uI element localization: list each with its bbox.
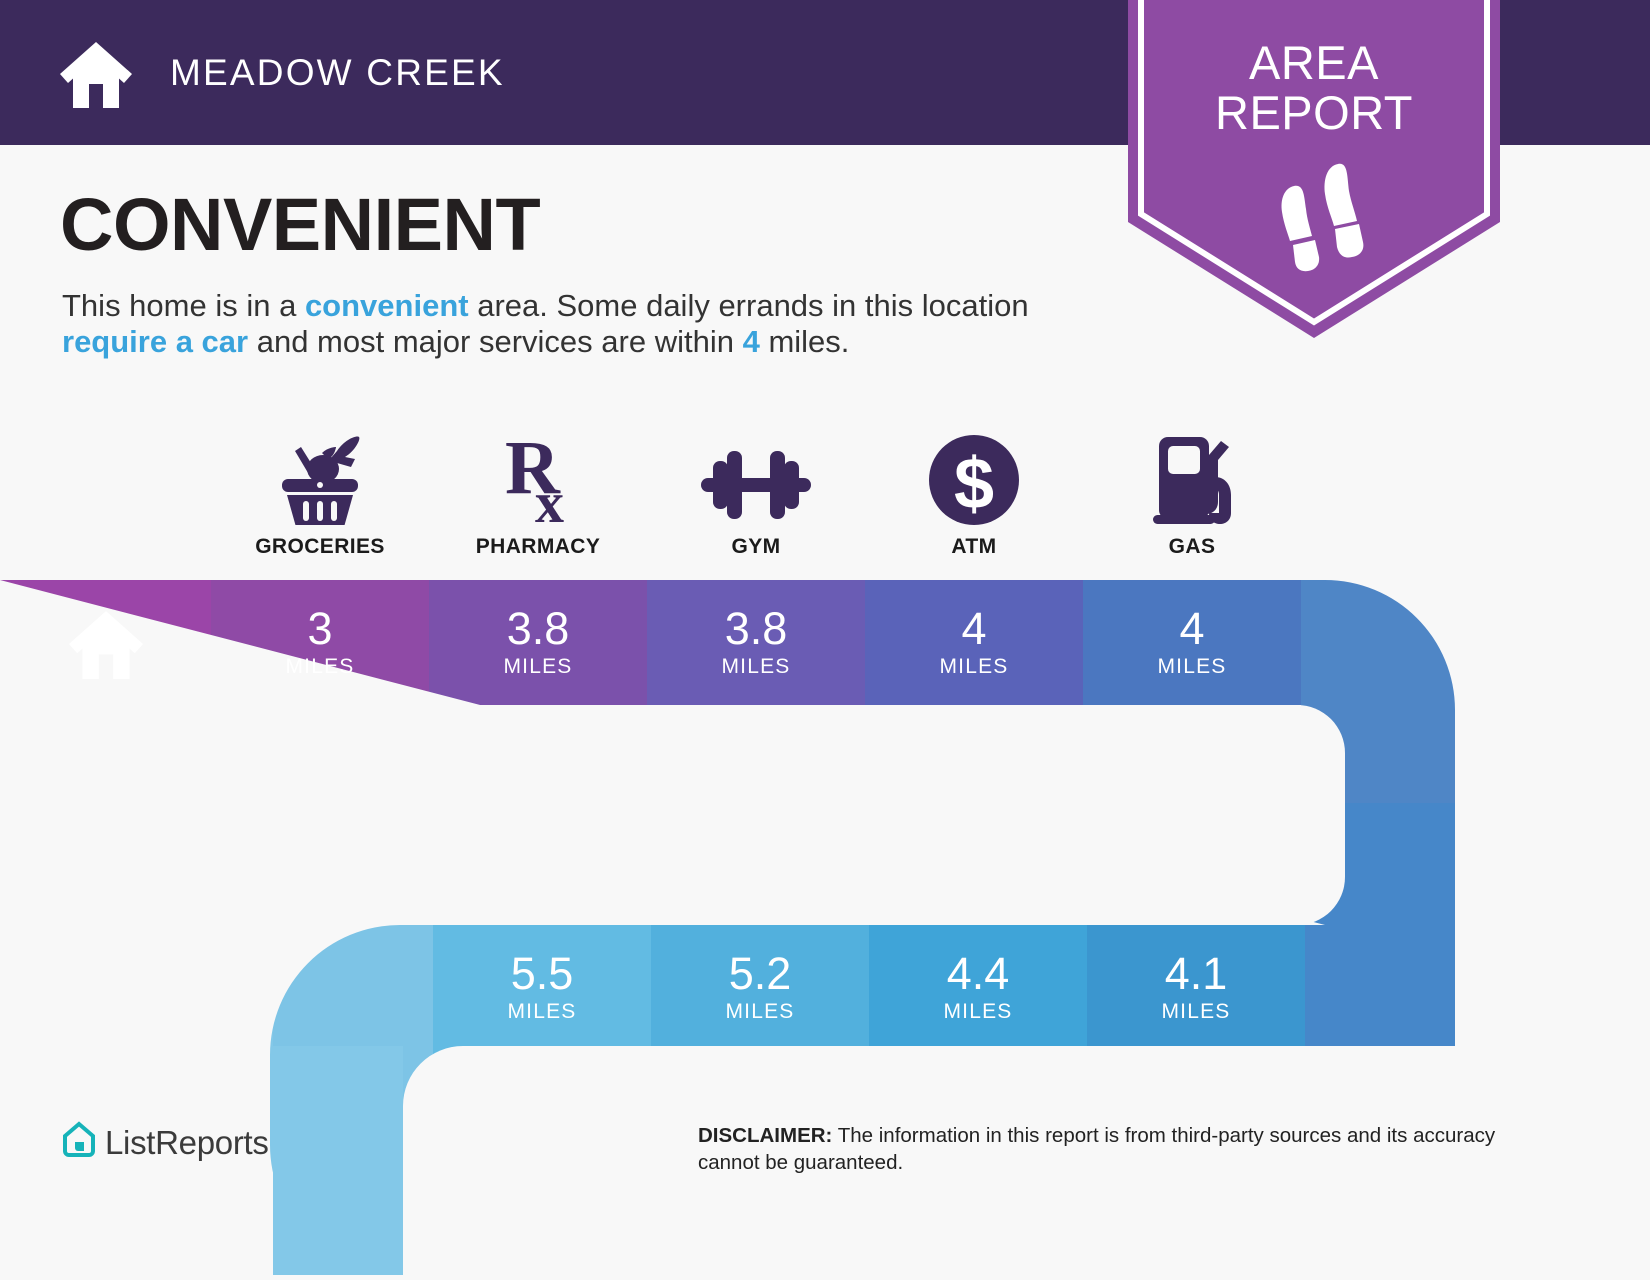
distance-value: 3.8	[725, 606, 788, 651]
distance-movie-theater: 4.1 MILES	[1087, 925, 1305, 1050]
distance-value: 5.5	[511, 951, 574, 996]
distance-cleaners: 5.2 MILES	[651, 925, 869, 1050]
distance-gas: 4 MILES	[1083, 580, 1301, 705]
distance-unit: MILES	[507, 1000, 576, 1024]
distance-unit: MILES	[721, 655, 790, 679]
subtitle-text: area. Some daily errands in this locatio…	[469, 288, 1029, 323]
listreports-wordmark: ListReports	[105, 1124, 269, 1162]
banner-line-2: REPORT	[1128, 88, 1500, 138]
distance-unit: MILES	[1157, 655, 1226, 679]
service-groceries: GROCERIES	[211, 415, 429, 559]
gas-pump-icon	[1137, 415, 1247, 525]
distance-value: 4.1	[1165, 951, 1228, 996]
subtitle-accent: require a car	[62, 324, 248, 359]
banner-title: AREA REPORT	[1128, 38, 1500, 138]
svg-text:x: x	[535, 470, 564, 525]
subtitle-text: miles.	[760, 324, 850, 359]
distance-unit: MILES	[285, 655, 354, 679]
service-label: ATM	[951, 535, 996, 559]
distance-unit: MILES	[503, 655, 572, 679]
distance-unit: MILES	[1161, 1000, 1230, 1024]
distance-atm: 4 MILES	[865, 580, 1083, 705]
service-label: PHARMACY	[476, 535, 601, 559]
listreports-pin-icon	[62, 1121, 96, 1164]
disclaimer: DISCLAIMER: The information in this repo…	[698, 1122, 1558, 1176]
area-report-page: MEADOW CREEK AREA REPORT CONVENIENT This…	[0, 0, 1650, 1275]
distance-value: 3	[307, 606, 332, 651]
distance-value: 5.2	[729, 951, 792, 996]
dumbbell-icon	[691, 415, 821, 525]
distance-unit: MILES	[943, 1000, 1012, 1024]
service-gas: GAS	[1083, 415, 1301, 559]
svg-text:$: $	[954, 444, 994, 524]
subtitle-text: This home is in a	[62, 288, 305, 323]
home-icon	[58, 38, 134, 108]
page-subtitle: This home is in a convenient area. Some …	[62, 288, 1092, 360]
distance-values-row-secondary: 5.5 MILES 5.2 MILES 4.4 MILES 4.1 MILES	[433, 925, 1305, 1050]
service-label: GYM	[731, 535, 780, 559]
subtitle-accent: 4	[743, 324, 760, 359]
service-atm: $ ATM	[865, 415, 1083, 559]
page-title: CONVENIENT	[60, 182, 540, 267]
distance-values-row-primary: 3 MILES 3.8 MILES 3.8 MILES 4 MILES 4 MI…	[211, 580, 1301, 705]
home-marker	[0, 580, 211, 705]
distance-medical: 4.4 MILES	[869, 925, 1087, 1050]
distance-value: 4.4	[947, 951, 1010, 996]
distance-value: 3.8	[507, 606, 570, 651]
disclaimer-label: DISCLAIMER:	[698, 1124, 832, 1147]
header-title: MEADOW CREEK	[170, 52, 505, 94]
distance-unit: MILES	[725, 1000, 794, 1024]
distance-coffee: 5.5 MILES	[433, 925, 651, 1050]
banner-line-1: AREA	[1128, 38, 1500, 88]
distance-groceries: 3 MILES	[211, 580, 429, 705]
listreports-logo: ListReports	[62, 1121, 269, 1164]
service-label: GROCERIES	[255, 535, 385, 559]
distance-unit: MILES	[939, 655, 1008, 679]
rx-icon: R x	[483, 415, 593, 525]
area-report-banner: AREA REPORT	[1128, 0, 1500, 338]
grocery-basket-icon	[265, 415, 375, 525]
subtitle-accent: convenient	[305, 288, 469, 323]
subtitle-text: and most major services are within	[248, 324, 742, 359]
service-label: GAS	[1169, 535, 1216, 559]
distance-gym: 3.8 MILES	[647, 580, 865, 705]
distance-value: 4	[961, 606, 986, 651]
distance-value: 4	[1179, 606, 1204, 651]
service-pharmacy: R x PHARMACY	[429, 415, 647, 559]
dollar-circle-icon: $	[919, 415, 1029, 525]
services-icon-row-primary: GROCERIES R x PHARMACY	[211, 415, 1301, 559]
service-gym: GYM	[647, 415, 865, 559]
distance-pharmacy: 3.8 MILES	[429, 580, 647, 705]
